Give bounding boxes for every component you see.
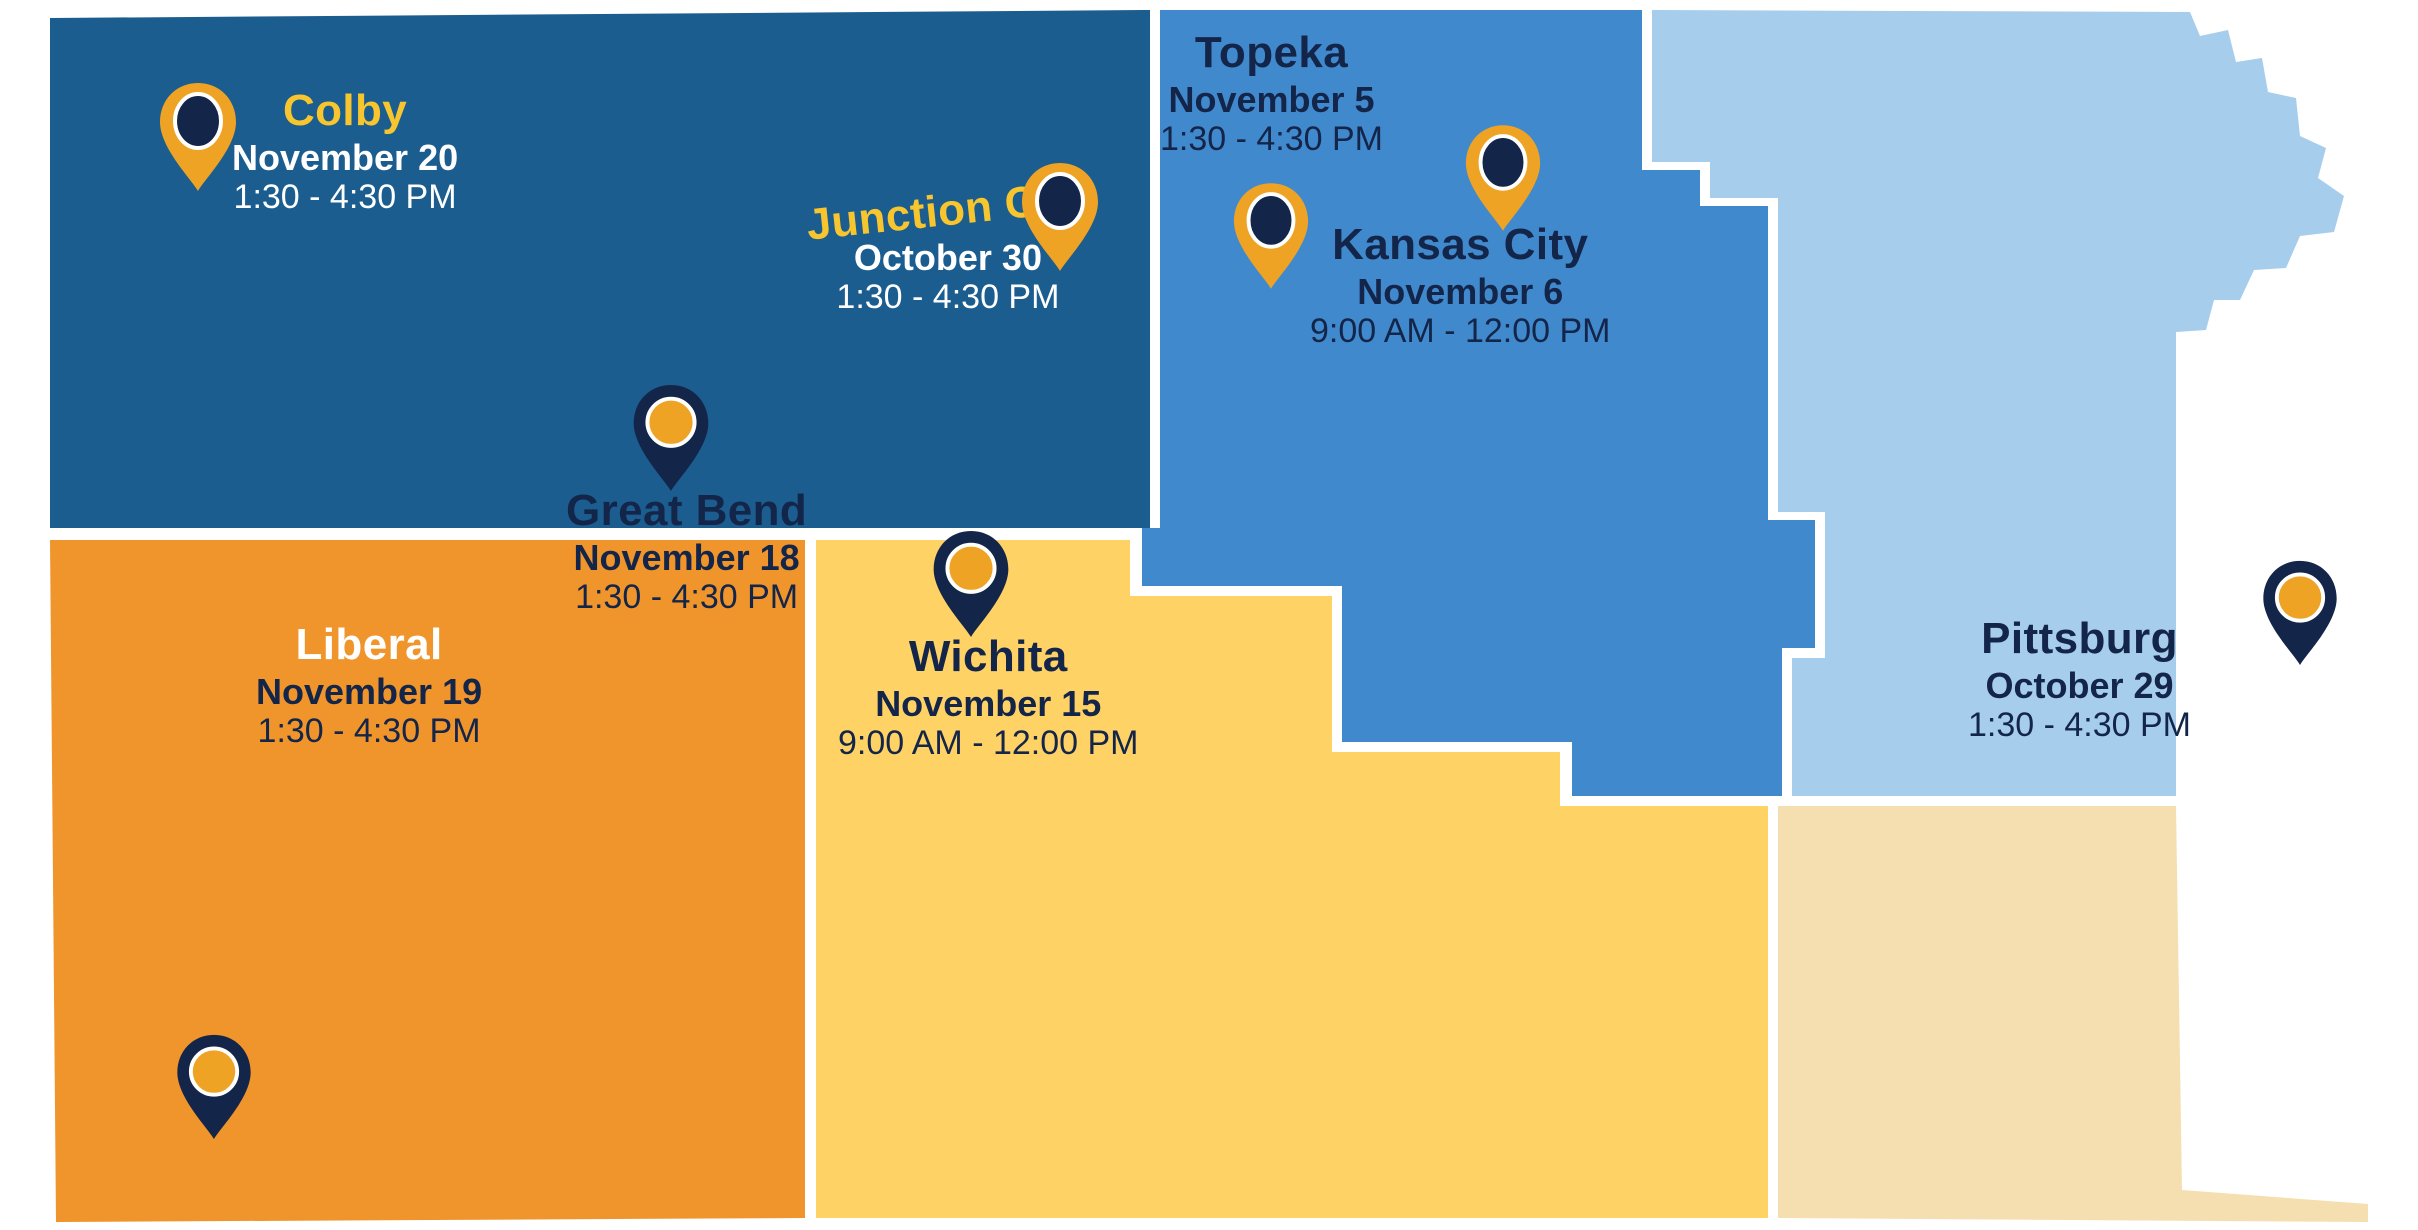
city-time-kansas-city: 9:00 AM - 12:00 PM — [1310, 313, 1611, 349]
label-great-bend: Great Bend November 18 1:30 - 4:30 PM — [566, 488, 807, 615]
city-name-colby: Colby — [232, 88, 458, 135]
city-name-liberal: Liberal — [256, 622, 482, 669]
map-pin-pittsburg[interactable] — [2258, 558, 2342, 668]
city-name-pittsburg: Pittsburg — [1968, 616, 2191, 663]
city-time-liberal: 1:30 - 4:30 PM — [256, 713, 482, 749]
city-date-topeka: November 5 — [1160, 81, 1383, 119]
city-date-pittsburg: October 29 — [1968, 667, 2191, 705]
city-date-kansas-city: November 6 — [1310, 273, 1611, 311]
city-date-colby: November 20 — [232, 139, 458, 177]
city-time-pittsburg: 1:30 - 4:30 PM — [1968, 707, 2191, 743]
city-name-topeka: Topeka — [1160, 30, 1383, 77]
map-pin-colby[interactable] — [156, 80, 240, 194]
label-topeka: Topeka November 5 1:30 - 4:30 PM — [1160, 30, 1383, 157]
map-pin-wichita[interactable] — [928, 528, 1014, 640]
city-date-great-bend: November 18 — [566, 539, 807, 577]
city-name-wichita: Wichita — [838, 634, 1139, 681]
map-pin-liberal[interactable] — [172, 1032, 256, 1142]
map-pin-great-bend[interactable] — [628, 382, 714, 494]
city-date-liberal: November 19 — [256, 673, 482, 711]
city-date-wichita: November 15 — [838, 685, 1139, 723]
city-time-colby: 1:30 - 4:30 PM — [232, 179, 458, 215]
label-liberal: Liberal November 19 1:30 - 4:30 PM — [256, 622, 482, 749]
city-time-wichita: 9:00 AM - 12:00 PM — [838, 725, 1139, 761]
city-time-junction-city: 1:30 - 4:30 PM — [806, 279, 1090, 315]
city-time-topeka: 1:30 - 4:30 PM — [1160, 121, 1383, 157]
map-pin-kansas-city[interactable] — [1462, 122, 1544, 234]
map-pin-junction-city[interactable] — [1018, 160, 1102, 274]
label-wichita: Wichita November 15 9:00 AM - 12:00 PM — [838, 634, 1139, 761]
label-kansas-city: Kansas City November 6 9:00 AM - 12:00 P… — [1310, 222, 1611, 349]
label-colby: Colby November 20 1:30 - 4:30 PM — [232, 88, 458, 215]
city-time-great-bend: 1:30 - 4:30 PM — [566, 579, 807, 615]
city-name-great-bend: Great Bend — [566, 488, 807, 535]
region-southeast[interactable] — [1778, 806, 2368, 1222]
map-infographic: Colby November 20 1:30 - 4:30 PM Junctio… — [0, 0, 2418, 1230]
map-pin-topeka[interactable] — [1230, 180, 1312, 292]
label-pittsburg: Pittsburg October 29 1:30 - 4:30 PM — [1968, 616, 2191, 743]
city-name-kansas-city: Kansas City — [1310, 222, 1611, 269]
